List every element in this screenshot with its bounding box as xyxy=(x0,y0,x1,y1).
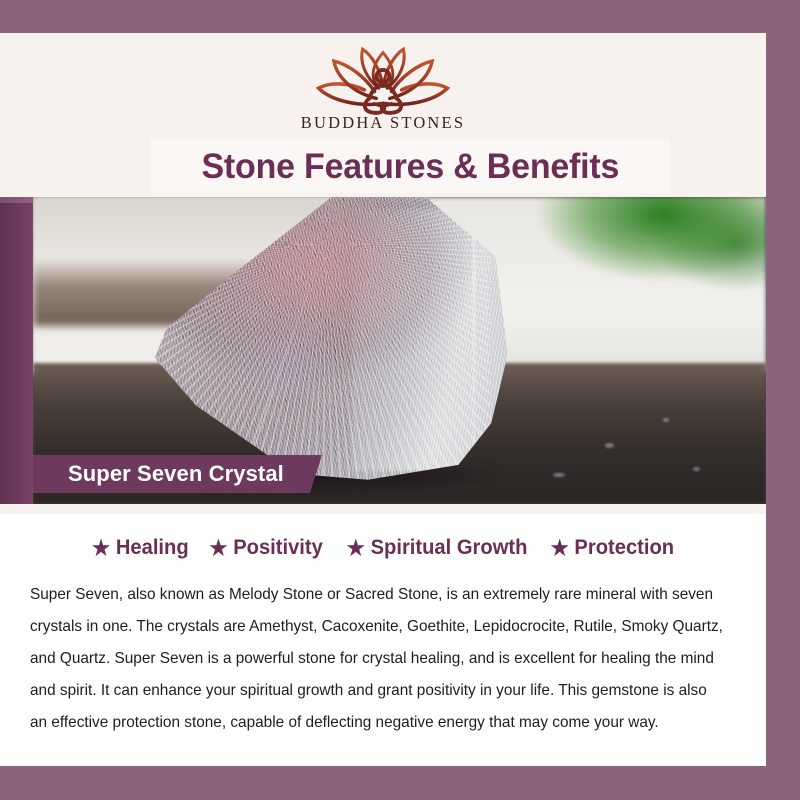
feature-label: Positivity xyxy=(234,536,324,560)
brand-name: BUDDHA STONES xyxy=(301,113,465,133)
star-icon: ★ xyxy=(346,538,364,559)
star-icon: ★ xyxy=(92,538,110,559)
star-icon: ★ xyxy=(550,538,568,559)
feature-item-positivity: ★ Positivity xyxy=(210,536,323,560)
left-accent-band xyxy=(0,197,33,504)
lotus-meditation-icon xyxy=(298,39,468,117)
table-speck xyxy=(605,443,614,448)
feature-item-spiritual-growth: ★ Spiritual Growth xyxy=(346,536,527,560)
table-speck xyxy=(693,467,700,471)
star-icon: ★ xyxy=(210,538,228,559)
description-paragraph: Super Seven, also known as Melody Stone … xyxy=(30,579,725,739)
poster-root: BUDDHA STONES Stone Features & Benefits xyxy=(0,0,800,800)
feature-label: Protection xyxy=(574,536,674,560)
content-card: BUDDHA STONES Stone Features & Benefits xyxy=(0,33,766,766)
feature-label: Healing xyxy=(115,536,188,560)
brand-logo: BUDDHA STONES xyxy=(283,39,483,139)
header: BUDDHA STONES Stone Features & Benefits xyxy=(0,33,766,197)
stone-name: Super Seven Crystal xyxy=(68,461,284,487)
stone-name-banner: Super Seven Crystal xyxy=(33,455,322,493)
title-strip: Stone Features & Benefits xyxy=(150,140,670,193)
feature-label: Spiritual Growth xyxy=(370,536,527,560)
cream-divider xyxy=(0,504,766,514)
page-title: Stone Features & Benefits xyxy=(201,147,619,187)
feature-item-healing: ★ Healing xyxy=(92,536,189,560)
feature-item-protection: ★ Protection xyxy=(550,536,674,560)
left-accent-band-bevel xyxy=(0,197,33,203)
feature-list: ★ Healing ★ Positivity ★ Spiritual Growt… xyxy=(30,536,736,560)
body-area: ★ Healing ★ Positivity ★ Spiritual Growt… xyxy=(0,514,766,739)
photo-region: Super Seven Crystal xyxy=(0,197,766,504)
